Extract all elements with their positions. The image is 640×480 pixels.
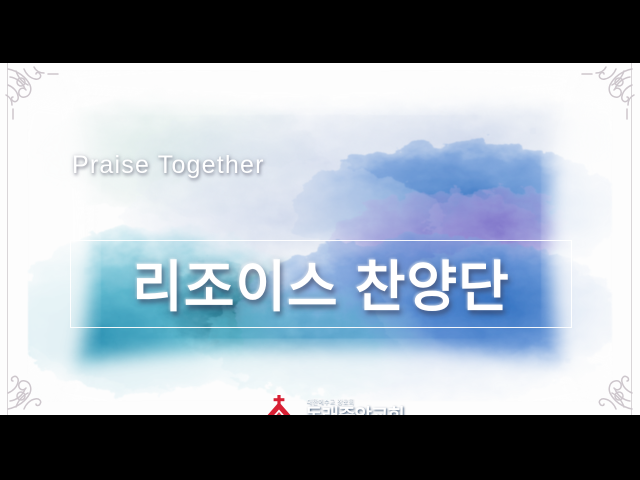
corner-ornament-top-right	[580, 65, 636, 121]
watercolor-background-art	[28, 71, 612, 401]
presentation-slide: Praise Together 리조이스 찬양단 대한예수교 장로회	[0, 63, 640, 415]
church-logo-wordmark: 대한예수교 장로회 동래중앙교회 Dongnae Central Presbyt…	[305, 400, 407, 415]
church-logo-mark	[255, 393, 303, 415]
corner-ornament-top-left	[4, 65, 60, 121]
slide-title: 리조이스 찬양단	[132, 242, 509, 322]
letterbox-bottom	[0, 415, 640, 480]
title-frame-box: 리조이스 찬양단	[70, 240, 572, 328]
video-frame: Praise Together 리조이스 찬양단 대한예수교 장로회	[0, 0, 640, 480]
corner-ornament-bottom-left	[4, 357, 60, 413]
church-logo: 대한예수교 장로회 동래중앙교회 Dongnae Central Presbyt…	[255, 388, 415, 415]
corner-ornament-bottom-right	[580, 357, 636, 413]
letterbox-top	[0, 0, 640, 63]
logo-church-name: 동래중앙교회	[305, 407, 404, 415]
slide-subtitle: Praise Together	[72, 151, 265, 180]
